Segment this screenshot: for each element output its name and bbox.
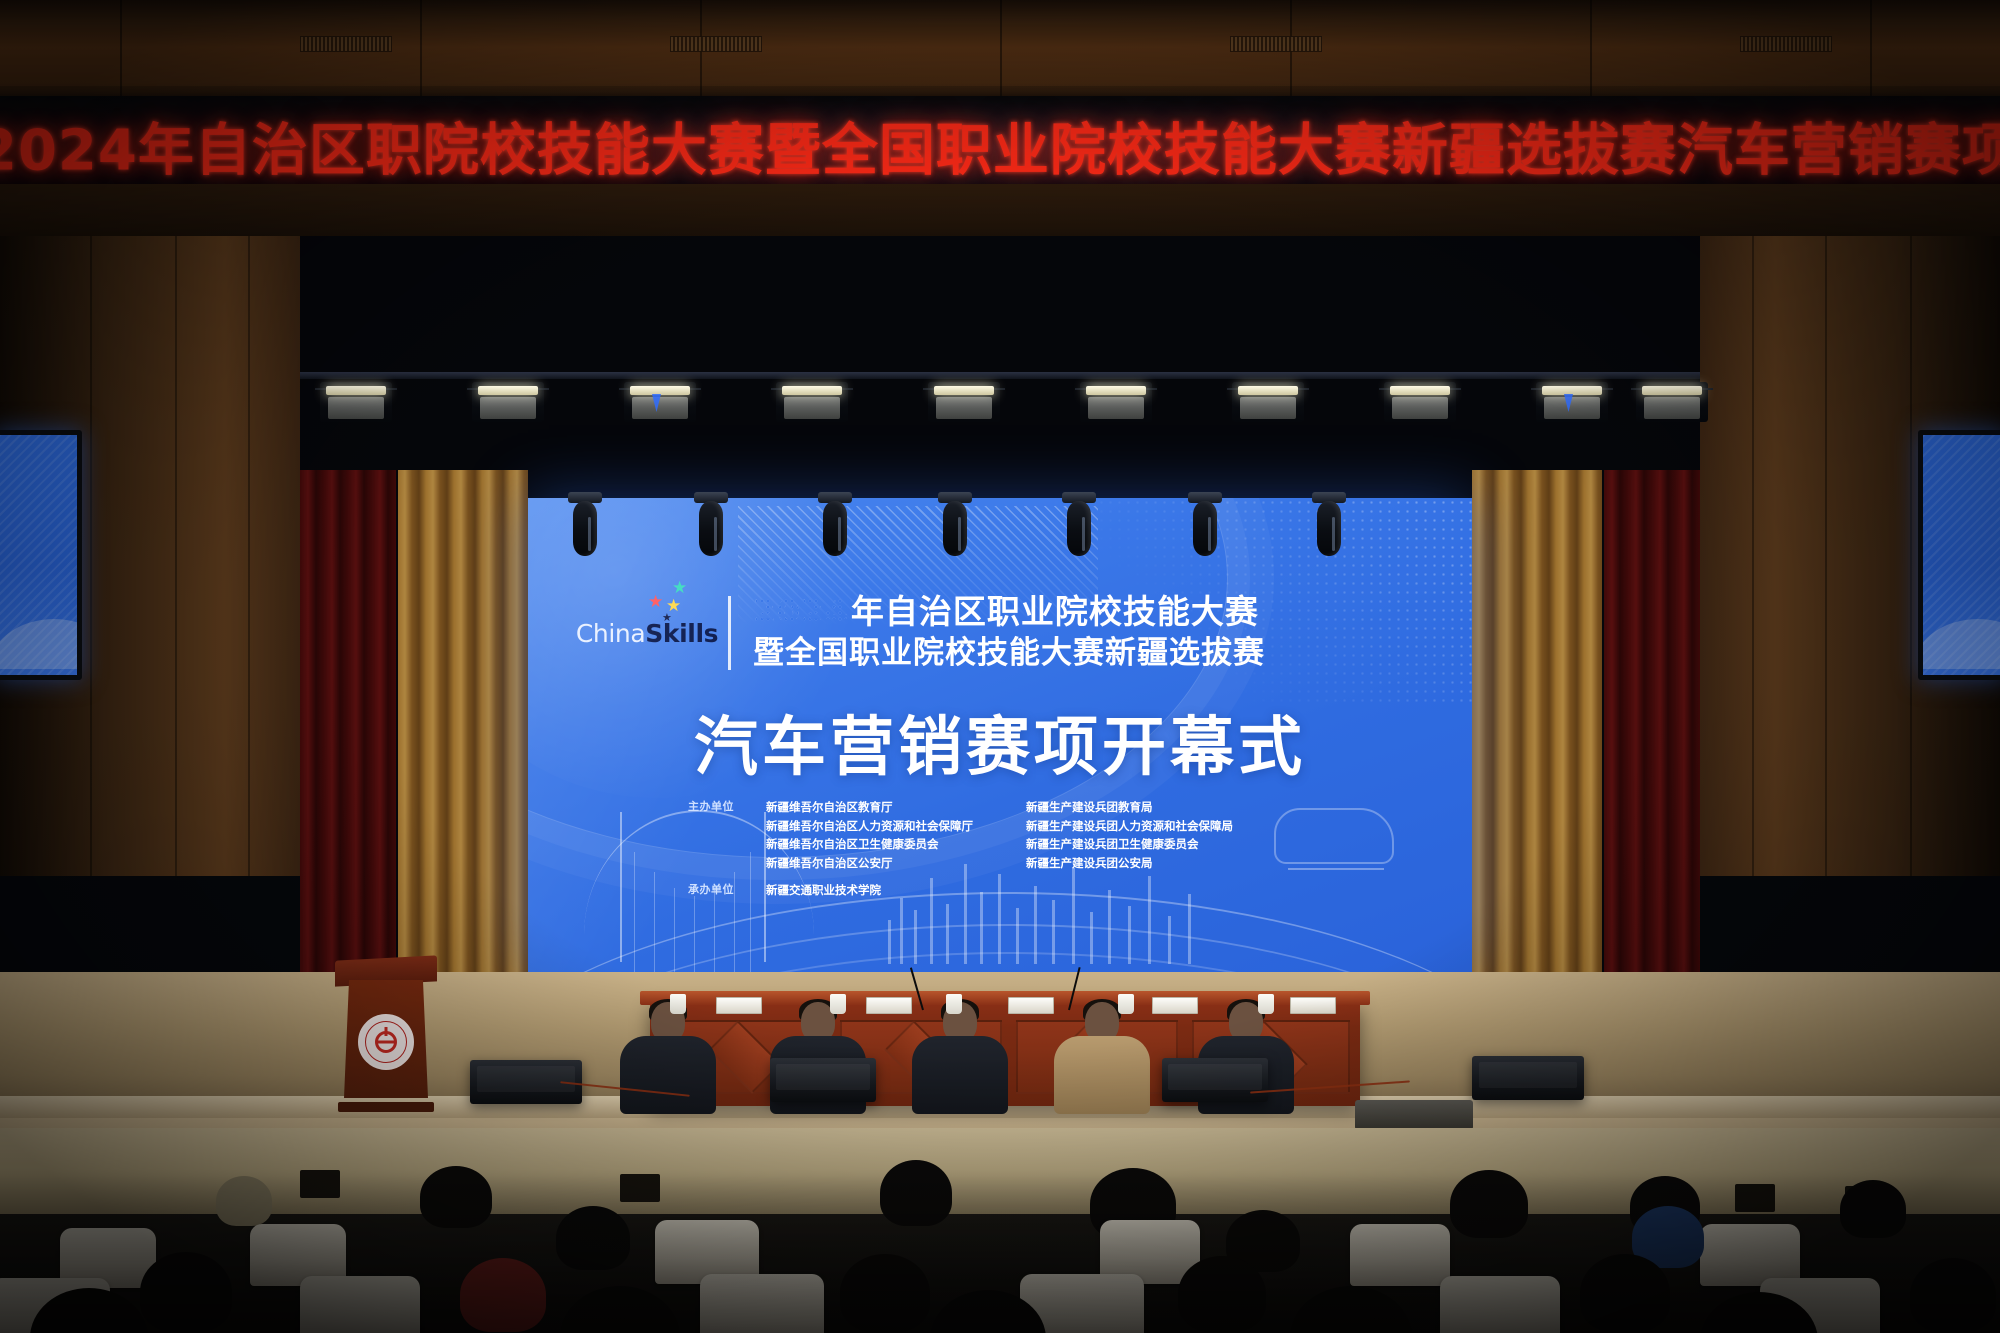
- host-org: 新疆生产建设兵团教育局: [1026, 798, 1326, 817]
- audience-head: [1840, 1180, 1906, 1238]
- audience-seat: [1700, 1224, 1800, 1286]
- audience-seat: [700, 1274, 824, 1333]
- side-screen-left: [0, 430, 82, 680]
- auditorium-scene: 2024年自治区职院校技能大赛暨全国职业院校技能大赛新疆选拔赛汽车营销赛项开幕式: [0, 0, 2000, 1333]
- undertaker-org: 新疆交通职业技术学院: [766, 881, 1026, 900]
- moving-head-light: [568, 492, 602, 558]
- audience-head: [556, 1206, 630, 1270]
- floor-monitor: [770, 1058, 876, 1102]
- led-banner: 2024年自治区职院校技能大赛暨全国职业院校技能大赛新疆选拔赛汽车营销赛项开幕式: [0, 96, 2000, 196]
- par-light: [1232, 382, 1304, 422]
- floor-monitor: [1472, 1056, 1584, 1100]
- par-light: [1536, 382, 1608, 422]
- par-light: [472, 382, 544, 422]
- audience-head: [140, 1252, 232, 1332]
- moving-head-light: [694, 492, 728, 558]
- water-cup: [946, 994, 962, 1014]
- ceiling-vent: [1740, 36, 1832, 52]
- moving-head-light: [938, 492, 972, 558]
- audience-head: [1178, 1256, 1266, 1332]
- logo-china-text: China: [576, 619, 645, 648]
- par-light: [320, 382, 392, 422]
- title-divider: [728, 596, 731, 670]
- screen-title-line-1-rest: 年自治区职业院校技能大赛: [851, 592, 1259, 631]
- audience-area: [0, 1128, 2000, 1333]
- chinaskills-logo: ★ ★ ★ ★ ChinaSkills: [572, 619, 722, 648]
- led-banner-text: 2024年自治区职院校技能大赛暨全国职业院校技能大赛新疆选拔赛汽车营销赛项开幕式: [0, 106, 2000, 187]
- ceiling-vent: [670, 36, 762, 52]
- nameplate: [716, 997, 762, 1014]
- host-label: 主办单位: [688, 798, 766, 873]
- screen-header: ★ ★ ★ ★ ChinaSkills 2024年自治区职业院校技能大赛 暨全国…: [572, 594, 1428, 672]
- host-org: 新疆生产建设兵团人力资源和社会保障局: [1026, 817, 1326, 836]
- ceiling-vent: [1230, 36, 1322, 52]
- water-cup: [1118, 994, 1134, 1014]
- podium: [344, 958, 428, 1106]
- water-cup: [670, 994, 686, 1014]
- logo-skills-text: Skills: [645, 619, 718, 648]
- audience-head: [460, 1258, 546, 1332]
- screen-main-title: 汽车营销赛项开幕式: [528, 696, 1472, 788]
- par-light: [928, 382, 1000, 422]
- undertaker-label: 承办单位: [688, 881, 766, 900]
- screen-title-year: 2024: [753, 592, 851, 631]
- host-org: 新疆生产建设兵团卫生健康委员会: [1026, 835, 1326, 854]
- audience-head: [880, 1160, 952, 1226]
- par-light: [1636, 382, 1708, 422]
- moving-head-light: [1312, 492, 1346, 558]
- audience-head: [840, 1254, 930, 1332]
- audience-head: [1290, 1286, 1412, 1333]
- nameplate: [1152, 997, 1198, 1014]
- par-light: [776, 382, 848, 422]
- audience-head: [216, 1176, 272, 1226]
- moving-head-light: [1062, 492, 1096, 558]
- star-cluster-icon: ★ ★ ★ ★: [642, 579, 712, 619]
- screen-title-line-1: 2024年自治区职业院校技能大赛: [753, 594, 1428, 631]
- screen-title-line-2: 暨全国职业院校技能大赛新疆选拔赛: [753, 635, 1428, 672]
- school-emblem-icon: [358, 1014, 414, 1070]
- lighting-truss: [300, 368, 1700, 438]
- audience-seat: [1440, 1276, 1560, 1333]
- host-org: 新疆维吾尔自治区人力资源和社会保障厅: [766, 817, 1026, 836]
- ceiling-vent: [300, 36, 392, 52]
- floor-monitor: [1162, 1058, 1268, 1102]
- host-org: 新疆维吾尔自治区公安厅: [766, 854, 1026, 873]
- nameplate: [866, 997, 912, 1014]
- water-cup: [830, 994, 846, 1014]
- audience-head: [1450, 1170, 1528, 1238]
- nameplate: [1008, 997, 1054, 1014]
- host-org: 新疆生产建设兵团公安局: [1026, 854, 1326, 873]
- host-org: 新疆维吾尔自治区卫生健康委员会: [766, 835, 1026, 854]
- organizer-block: 主办单位 新疆维吾尔自治区教育厅 新疆维吾尔自治区人力资源和社会保障厅 新疆维吾…: [688, 798, 1326, 904]
- audience-head: [1910, 1258, 1996, 1332]
- par-light: [1384, 382, 1456, 422]
- audience-head: [1580, 1254, 1670, 1332]
- par-light: [1080, 382, 1152, 422]
- moving-head-light: [818, 492, 852, 558]
- par-light: [624, 382, 696, 422]
- audience-wall: [0, 1128, 2000, 1214]
- main-led-screen: ★ ★ ★ ★ ChinaSkills 2024年自治区职业院校技能大赛 暨全国…: [528, 498, 1472, 972]
- nameplate: [1290, 997, 1336, 1014]
- water-cup: [1258, 994, 1274, 1014]
- audience-seat: [300, 1276, 420, 1333]
- projector: [1355, 1100, 1473, 1130]
- host-org: 新疆维吾尔自治区教育厅: [766, 798, 1026, 817]
- audience-head: [420, 1166, 492, 1228]
- side-screen-right: [1918, 430, 2000, 680]
- audience-head: [560, 1286, 680, 1333]
- moving-head-light: [1188, 492, 1222, 558]
- audience-seat: [1350, 1224, 1450, 1286]
